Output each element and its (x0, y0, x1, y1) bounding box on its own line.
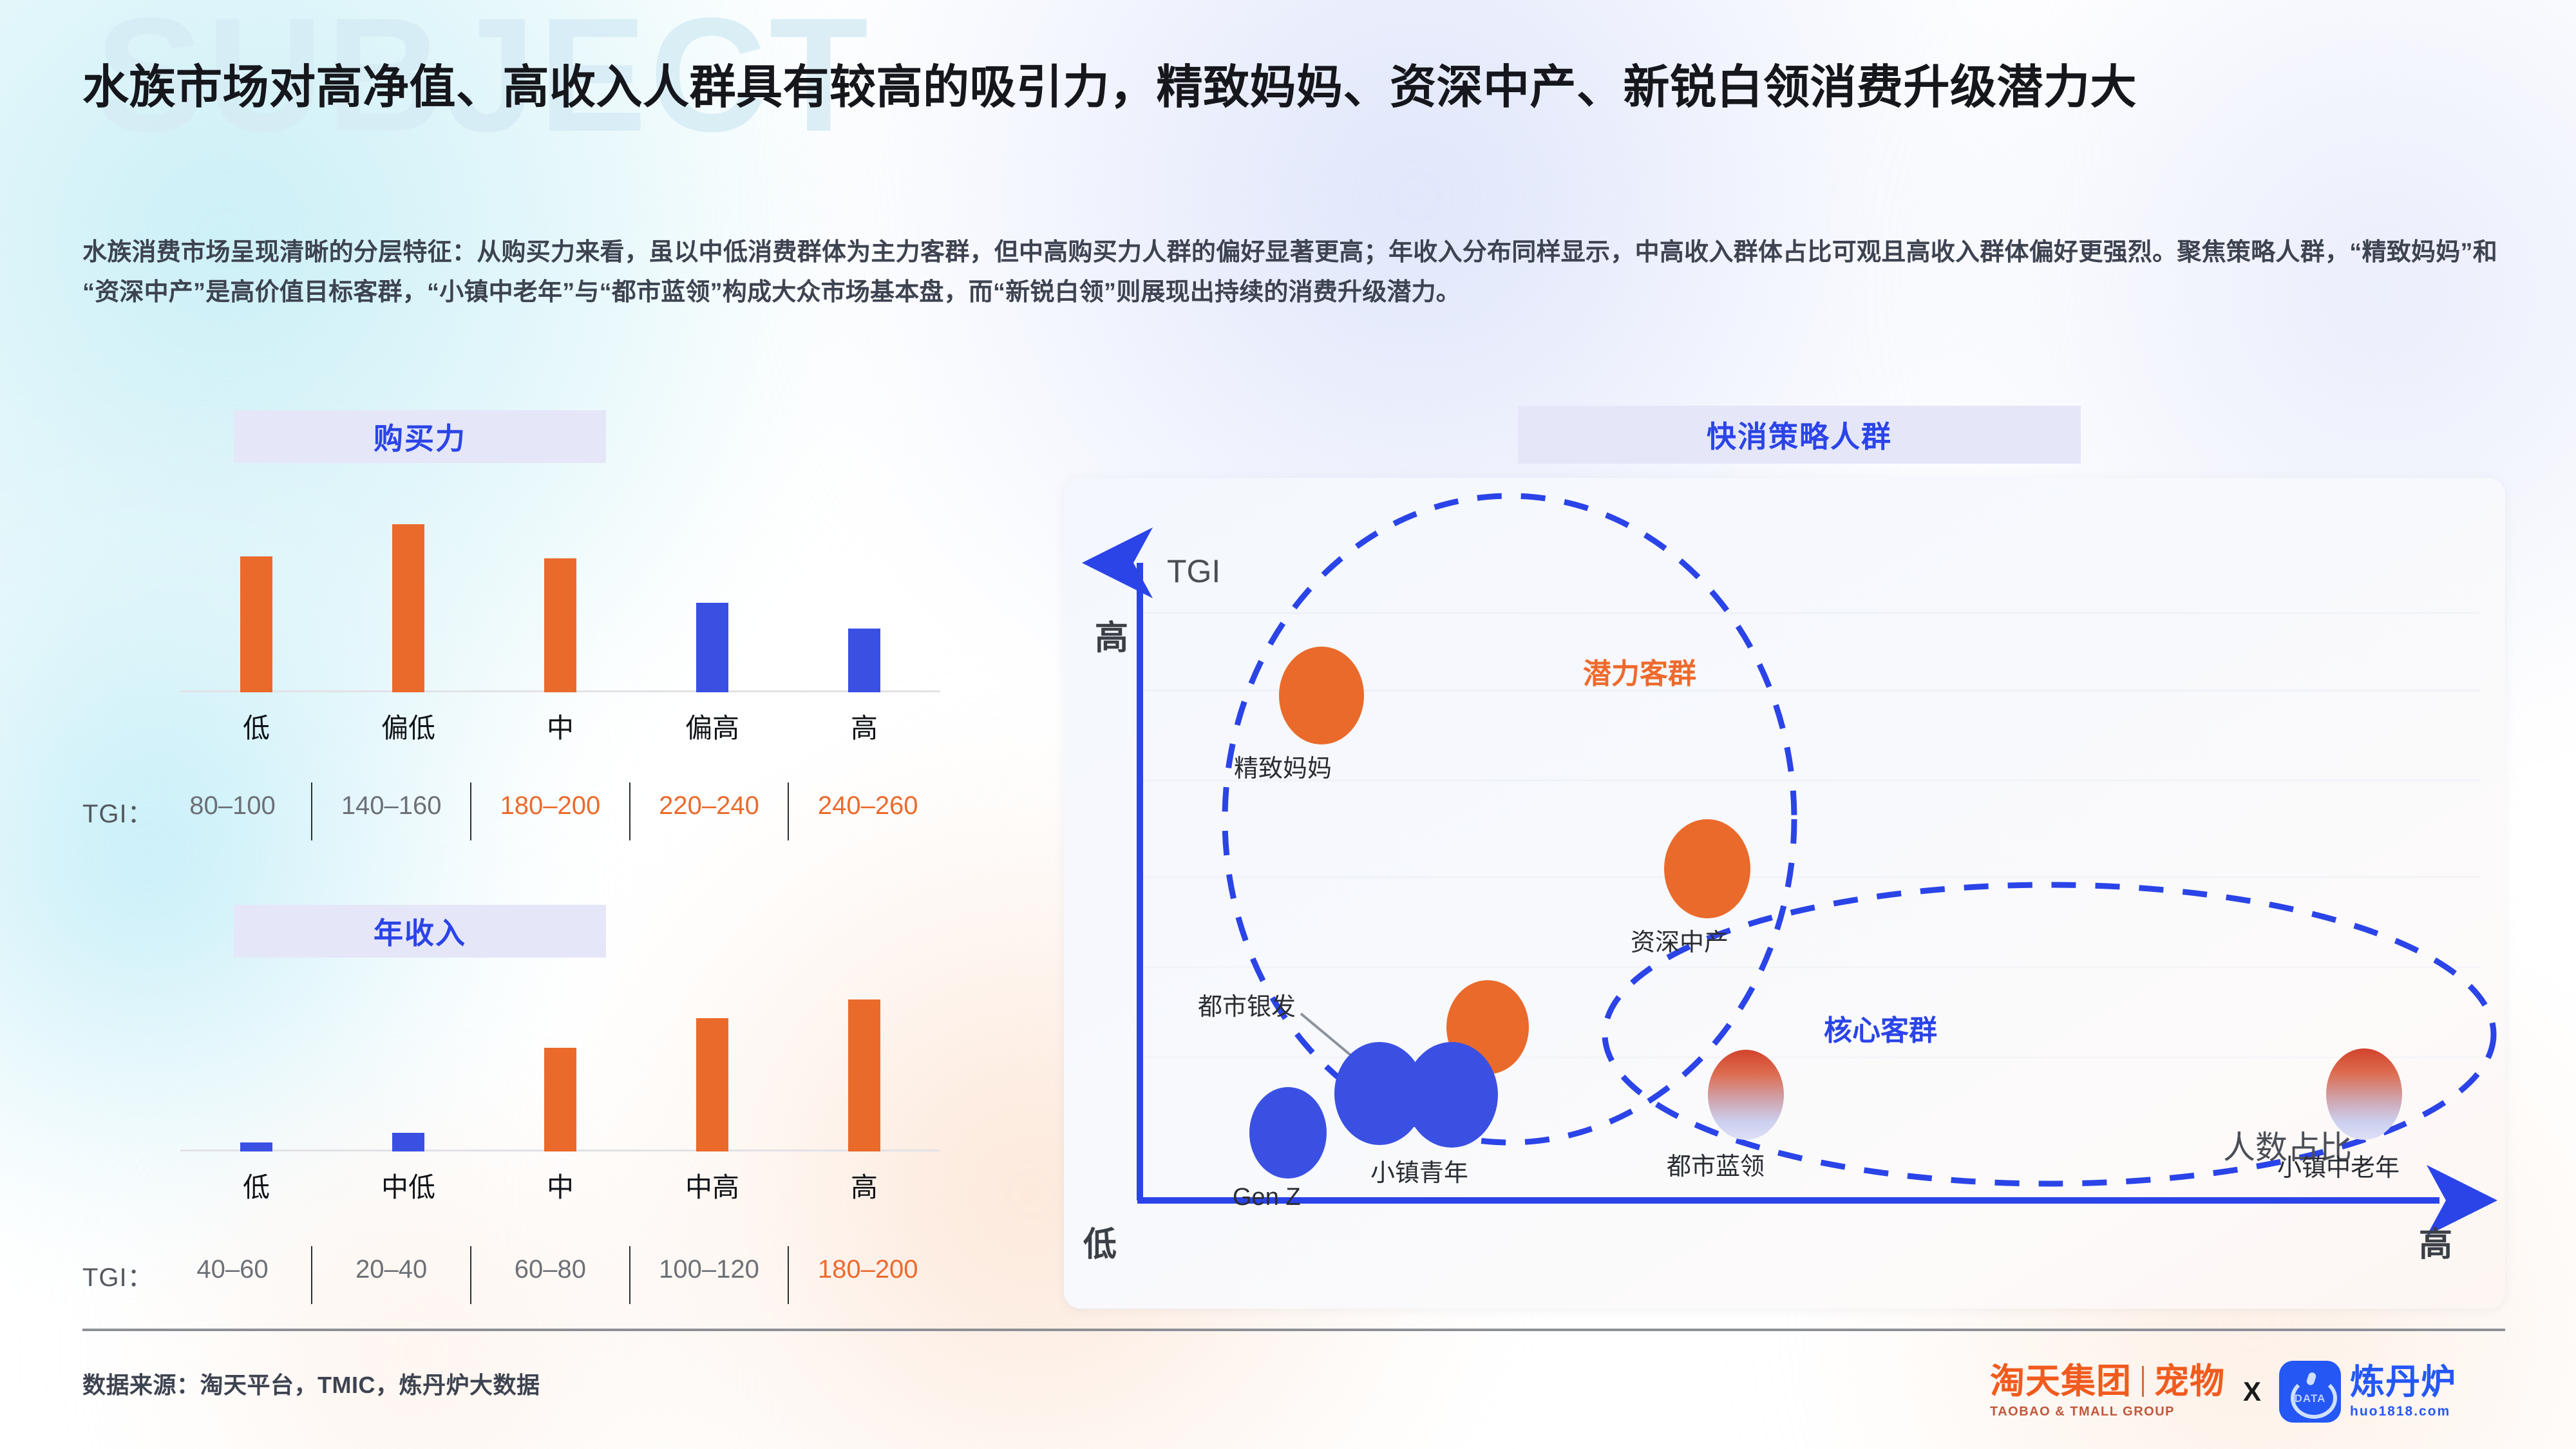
bubble-label-town-middle-aged: 小镇中老年 (2277, 1148, 2400, 1183)
bubble-senior-middle-class[interactable] (1664, 819, 1750, 918)
logo-liandanlu: DATA 炼丹炉 huo1818.com (2279, 1361, 2456, 1423)
tgi-row-annual-income: TGI： 40–6020–4060–80100–120180–200 (82, 1246, 947, 1304)
section-header-annual-income-label: 年收入 (374, 910, 466, 952)
bar-偏高 (696, 603, 728, 692)
tgi-value-中: 180–200 (470, 782, 629, 840)
x-axis-low-label: 低 (1083, 1217, 1117, 1265)
section-header-strategy-groups: 快消策略人群 (1518, 406, 2081, 464)
bar-高 (848, 629, 880, 692)
logo-taotian-en: TAOBAO & TMALL GROUP (1990, 1405, 2175, 1419)
data-source-text: 数据来源：淘天平台，TMIC，炼丹炉大数据 (82, 1367, 540, 1400)
bubble-label-gen-z: Gen Z (1233, 1184, 1301, 1211)
zone-label-core: 核心客群 (1824, 1007, 1937, 1048)
bubble-label-town-youth: 小镇青年 (1370, 1153, 1468, 1188)
chart-annual-income-categories: 低中低中中高高 (180, 1166, 940, 1205)
tgi-row-purchasing-power: TGI： 80–100140–160180–200220–240240–260 (82, 782, 947, 840)
tgi-value-高: 180–200 (788, 1246, 947, 1304)
bar-中低 (392, 1133, 424, 1151)
page-subtitle: 水族消费市场呈现清晰的分层特征：从购买力来看，虽以中低消费群体为主力客群，但中高… (82, 233, 2497, 312)
bar-中 (544, 1048, 576, 1151)
category-label-中低: 中低 (332, 1166, 484, 1205)
chart-strategy-groups: TGI 高 人数占比 低 高 潜力客群 核心客群 精致妈妈 资深中产 新锐白领 … (1064, 478, 2505, 1309)
category-label-偏低: 偏低 (332, 706, 484, 746)
logo-taotian-cn: 淘天集团 (1990, 1364, 2132, 1399)
category-label-中: 中 (484, 706, 636, 746)
category-label-高: 高 (788, 706, 940, 746)
bubble-refined-mom[interactable] (1279, 647, 1364, 744)
category-label-高: 高 (788, 1166, 940, 1205)
bar-中 (544, 558, 576, 692)
footer-logos: 淘天集团 宠物 TAOBAO & TMALL GROUP X DATA 炼丹炉 … (1990, 1350, 2456, 1434)
tgi-value-高: 240–260 (788, 782, 947, 840)
chart-purchasing-power-categories: 低偏低中偏高高 (180, 706, 940, 746)
tgi-row-annual-income-prefix: TGI： (82, 1256, 154, 1294)
y-axis-label: TGI (1167, 553, 1220, 590)
category-label-低: 低 (180, 706, 332, 746)
chart-annual-income-plot (180, 966, 940, 1151)
section-header-purchasing-power: 购买力 (234, 410, 606, 463)
page-title: 水族市场对高净值、高收入人群具有较高的吸引力，精致妈妈、资深中产、新锐白领消费升… (82, 57, 2504, 118)
logo-x-separator: X (2243, 1376, 2261, 1407)
category-label-偏高: 偏高 (636, 706, 788, 746)
category-label-中高: 中高 (636, 1166, 788, 1205)
tgi-value-偏低: 140–160 (311, 782, 470, 840)
bar-高 (848, 999, 880, 1151)
logo-taotian-top: 淘天集团 宠物 (1990, 1364, 2225, 1399)
logo-taotian: 淘天集团 宠物 TAOBAO & TMALL GROUP (1990, 1364, 2225, 1419)
tgi-row-annual-income-cells: 40–6020–4060–80100–120180–200 (154, 1246, 947, 1304)
x-axis-high-label: 高 (2419, 1217, 2452, 1265)
bar-中高 (696, 1018, 728, 1151)
zone-label-potential: 潜力客群 (1583, 650, 1696, 692)
bubble-town-middle-aged[interactable] (2326, 1048, 2402, 1140)
bar-偏低 (392, 524, 424, 692)
tgi-value-中高: 100–120 (629, 1246, 788, 1304)
category-label-低: 低 (180, 1166, 332, 1205)
bubble-label-urban-blue-collar: 都市蓝领 (1667, 1146, 1765, 1182)
bubble-town-youth[interactable] (1405, 1042, 1498, 1148)
logo-divider-icon (2142, 1366, 2144, 1397)
tgi-row-purchasing-power-prefix: TGI： (82, 793, 154, 830)
section-header-strategy-groups-label: 快消策略人群 (1707, 413, 1892, 456)
bar-低 (240, 1142, 272, 1151)
bubble-gen-z[interactable] (1249, 1087, 1327, 1179)
category-label-中: 中 (484, 1166, 636, 1205)
bubble-urban-blue-collar[interactable] (1708, 1050, 1784, 1140)
bubble-label-urban-silver: 都市银发 (1198, 987, 1296, 1022)
logo-liandanlu-cn: 炼丹炉 (2350, 1365, 2456, 1399)
bubble-label-senior-middle-class: 资深中产 (1631, 922, 1728, 958)
chart-purchasing-power-plot (180, 480, 940, 692)
bar-低 (240, 556, 272, 692)
y-axis-high-label: 高 (1095, 611, 1128, 659)
tgi-value-中: 60–80 (470, 1246, 629, 1304)
tgi-value-中低: 20–40 (311, 1246, 470, 1304)
section-header-annual-income: 年收入 (234, 905, 606, 958)
tgi-value-偏高: 220–240 (629, 782, 788, 840)
tgi-value-低: 80–100 (154, 782, 312, 840)
footer-divider (82, 1329, 2505, 1331)
tgi-value-低: 40–60 (154, 1246, 312, 1304)
liandanlu-badge-text: DATA (2295, 1392, 2326, 1405)
logo-liandanlu-url: huo1818.com (2350, 1404, 2456, 1419)
section-header-purchasing-power-label: 购买力 (374, 415, 466, 458)
logo-liandanlu-text: 炼丹炉 huo1818.com (2350, 1365, 2456, 1419)
liandanlu-badge-icon: DATA (2279, 1361, 2341, 1423)
bubble-label-refined-mom: 精致妈妈 (1234, 748, 1332, 784)
tgi-row-purchasing-power-cells: 80–100140–160180–200220–240240–260 (154, 782, 947, 840)
logo-taotian-category: 宠物 (2154, 1364, 2225, 1399)
